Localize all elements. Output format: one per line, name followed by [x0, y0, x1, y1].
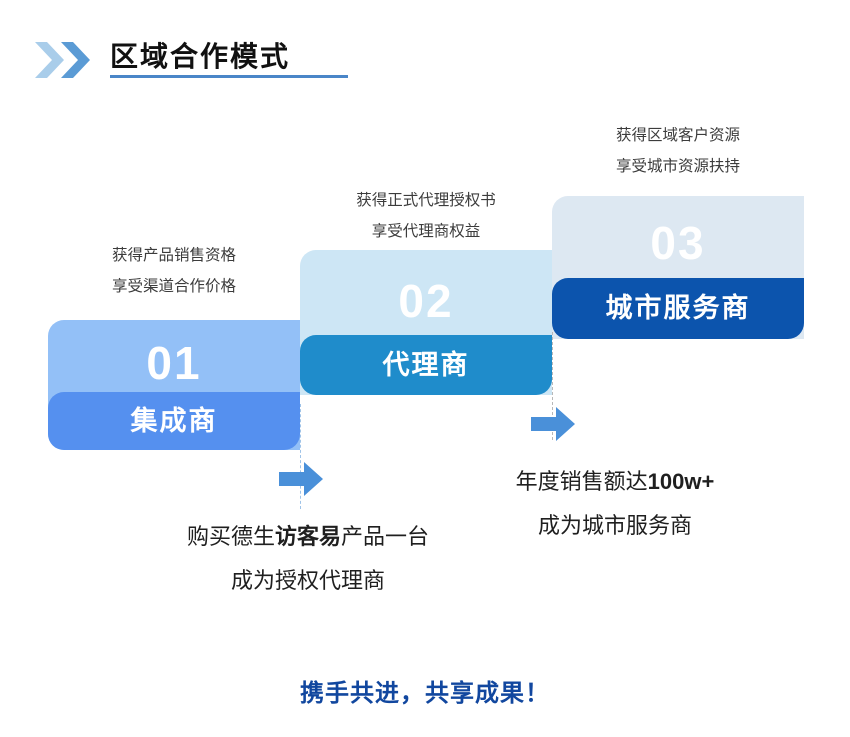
step-2-benefits: 获得正式代理授权书 享受代理商权益 [300, 185, 552, 247]
step-2-card[interactable]: 02 代理商 [300, 250, 552, 395]
step-2-number: 02 [300, 278, 552, 324]
step-2-name-band: 代理商 [300, 335, 552, 395]
transition-2-highlight: 100w+ [648, 469, 715, 494]
transition-1-result: 成为授权代理商 [148, 559, 468, 603]
arrow-right-icon-1 [279, 461, 323, 497]
step-1-name-band: 集成商 [48, 392, 300, 450]
step-1-benefit-line-1: 获得产品销售资格 [48, 240, 300, 271]
transition-1-suffix: 产品一台 [341, 524, 429, 549]
step-1-benefit-line-2: 享受渠道合作价格 [48, 271, 300, 302]
chevron-group-icon [34, 41, 96, 79]
step-1-benefits: 获得产品销售资格 享受渠道合作价格 [48, 240, 300, 302]
step-3-name-band: 城市服务商 [552, 278, 804, 339]
page-header: 区域合作模式 [34, 36, 290, 84]
step-2-benefit-line-2: 享受代理商权益 [300, 216, 552, 247]
transition-2-prefix: 年度销售额达 [516, 469, 648, 494]
transition-2-requirement: 年度销售额达100w+ 成为城市服务商 [420, 460, 810, 548]
slide-canvas: 区域合作模式 获得产品销售资格 享受渠道合作价格 01 集成商 获得正式代理授权… [0, 0, 850, 737]
step-2-role-label: 代理商 [383, 352, 470, 379]
step-3-role-label: 城市服务商 [606, 295, 751, 322]
title-underline [110, 75, 348, 78]
transition-2-requirement-line: 年度销售额达100w+ [420, 460, 810, 504]
page-title-wrap: 区域合作模式 [110, 43, 290, 78]
step-2-benefit-line-1: 获得正式代理授权书 [300, 185, 552, 216]
footer-slogan: 携手共进，共享成果！ [0, 673, 850, 708]
step-3-benefits: 获得区域客户资源 享受城市资源扶持 [552, 120, 804, 182]
step-1-role-label: 集成商 [131, 408, 218, 435]
transition-1-prefix: 购买德生 [187, 524, 275, 549]
step-1-card[interactable]: 01 集成商 [48, 320, 300, 450]
chevron-right-dark-icon [60, 41, 90, 79]
page-title: 区域合作模式 [110, 43, 290, 71]
step-1-number: 01 [48, 340, 300, 386]
step-3-benefit-line-1: 获得区域客户资源 [552, 120, 804, 151]
transition-1-highlight: 访客易 [275, 524, 341, 549]
arrow-right-icon-2 [531, 406, 575, 442]
step-3-card[interactable]: 03 城市服务商 [552, 196, 804, 339]
step-3-benefit-line-2: 享受城市资源扶持 [552, 151, 804, 182]
transition-2-result: 成为城市服务商 [420, 504, 810, 548]
step-3-number: 03 [552, 220, 804, 266]
